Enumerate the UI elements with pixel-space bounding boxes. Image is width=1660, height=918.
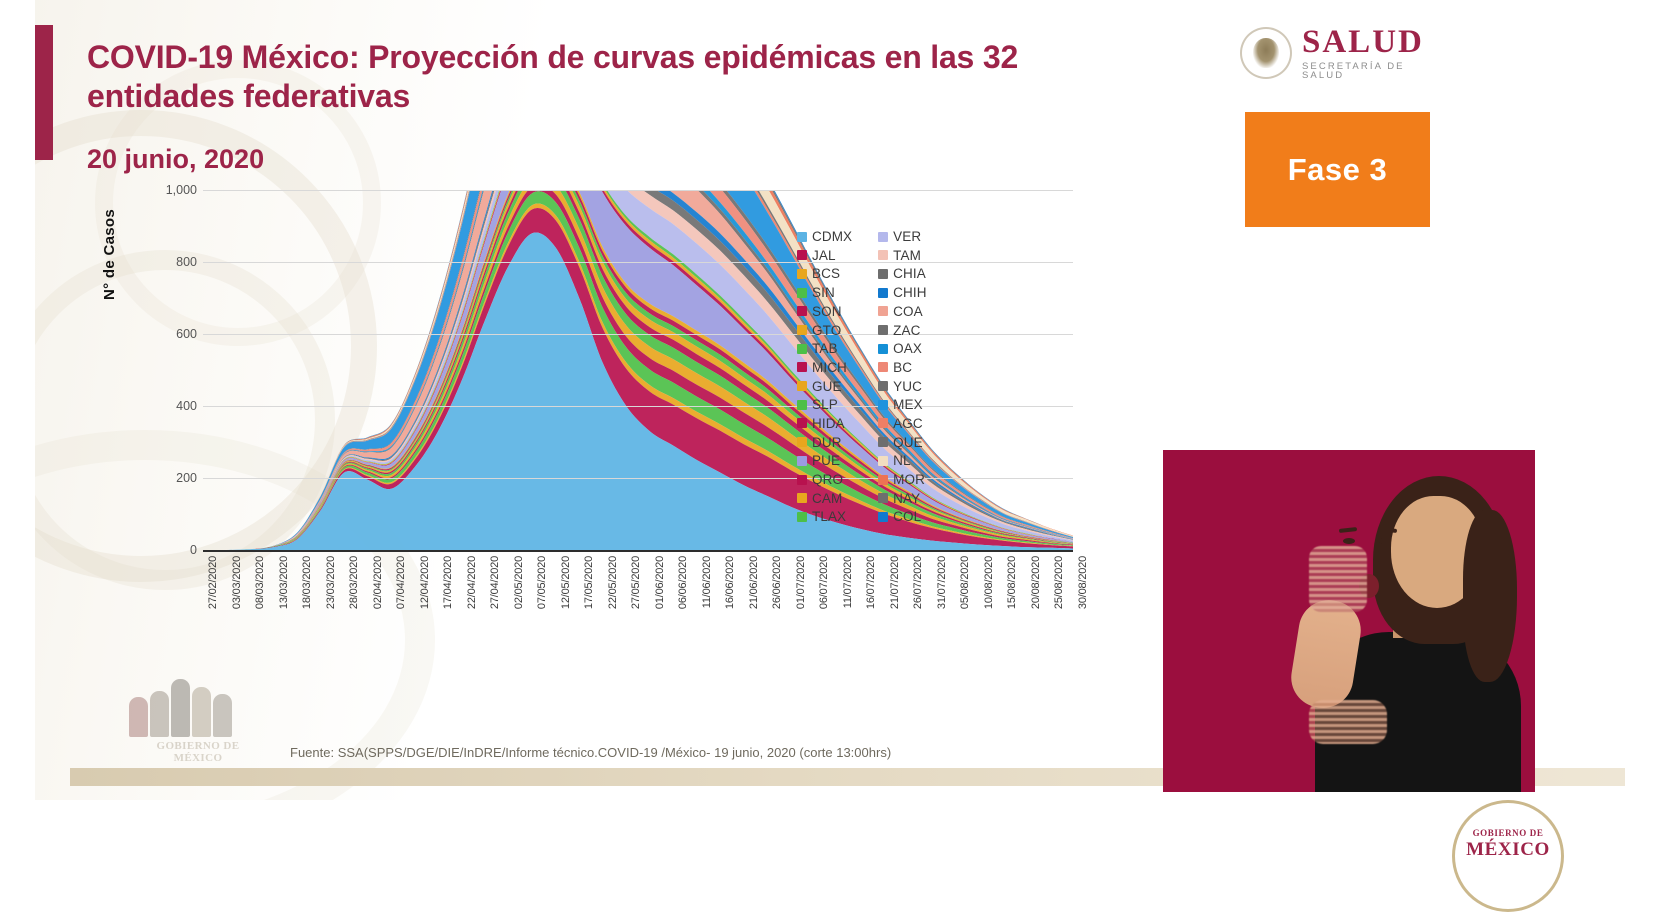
legend-label: MOR	[893, 472, 925, 487]
x-axis-tick-label: 15/08/2020	[1006, 556, 1018, 609]
watermark-figure	[150, 691, 169, 737]
legend-label: BC	[893, 360, 912, 375]
legend-swatch-icon	[797, 400, 807, 410]
watermark-figure	[129, 697, 148, 737]
x-axis-tick-label: 11/06/2020	[701, 556, 713, 608]
legend-item-pue[interactable]: PUE	[797, 452, 852, 469]
watermark-figure	[213, 694, 232, 737]
legend-item-chih[interactable]: CHIH	[878, 284, 926, 301]
legend-item-cam[interactable]: CAM	[797, 490, 852, 507]
epidemic-curves-chart: N° de Casos 02004006008001,000 27/02/202…	[107, 190, 1117, 670]
salud-wordmark: SALUD	[1302, 26, 1440, 59]
page-title: COVID-19 México: Proyección de curvas ep…	[87, 38, 1147, 116]
legend-swatch-icon	[878, 437, 888, 447]
watermark-figure	[192, 687, 211, 737]
legend-swatch-icon	[878, 325, 888, 335]
y-axis-tick-label: 800	[131, 255, 197, 269]
interpreter-hand-motion-blur	[1309, 546, 1367, 612]
legend-swatch-icon	[797, 269, 807, 279]
source-note: Fuente: SSA(SPPS/DGE/DIE/InDRE/Informe t…	[290, 745, 891, 760]
legend-swatch-icon	[878, 344, 888, 354]
gob-seal-top-text: GOBIERNO DE	[1473, 828, 1544, 838]
x-axis-tick-label: 01/07/2020	[795, 556, 807, 609]
x-axis-tick-label: 12/05/2020	[560, 556, 572, 609]
legend-label: SLP	[812, 397, 838, 412]
x-axis-tick-label: 12/04/2020	[419, 556, 431, 609]
y-axis-tick-label: 0	[131, 543, 197, 557]
legend-swatch-icon	[797, 512, 807, 522]
legend-item-slp[interactable]: SLP	[797, 396, 852, 413]
x-axis-tick-label: 26/07/2020	[912, 556, 924, 609]
x-axis-tick-label: 11/07/2020	[842, 556, 854, 608]
x-axis-tick-label: 22/05/2020	[607, 556, 619, 609]
legend-label: COA	[893, 304, 923, 319]
x-axis-tick-label: 16/07/2020	[865, 556, 877, 609]
legend-item-son[interactable]: SON	[797, 303, 852, 320]
legend-swatch-icon	[797, 418, 807, 428]
legend-label: PUE	[812, 453, 840, 468]
legend-item-hida[interactable]: HIDA	[797, 415, 852, 432]
legend-label: HIDA	[812, 416, 845, 431]
legend-item-coa[interactable]: COA	[878, 303, 926, 320]
legend-item-oax[interactable]: OAX	[878, 340, 926, 357]
legend-label: ZAC	[893, 323, 920, 338]
chart-gridline	[203, 190, 1073, 191]
legend-label: CDMX	[812, 229, 852, 244]
legend-label: JAL	[812, 248, 836, 263]
legend-item-bc[interactable]: BC	[878, 359, 926, 376]
legend-label: CAM	[812, 491, 842, 506]
legend-item-bcs[interactable]: BCS	[797, 265, 852, 282]
chart-legend: CDMXJALBCSSINSONGTOTABMICHGUESLPHIDADURP…	[797, 228, 1062, 526]
x-axis-tick-label: 28/03/2020	[348, 556, 360, 609]
watermark-figure	[171, 679, 190, 737]
interpreter-hair-side	[1463, 510, 1517, 682]
salud-logo: SALUD SECRETARÍA DE SALUD	[1240, 22, 1440, 84]
page-date: 20 junio, 2020	[87, 144, 1147, 175]
watermark-line2: MÉXICO	[174, 752, 223, 764]
legend-swatch-icon	[878, 269, 888, 279]
legend-swatch-icon	[797, 288, 807, 298]
legend-item-nl[interactable]: NL	[878, 452, 926, 469]
interpreter-eyebrow	[1339, 527, 1357, 533]
legend-label: GTO	[812, 323, 841, 338]
legend-label: QUE	[893, 435, 923, 450]
y-axis-ticks: 02004006008001,000	[107, 190, 197, 550]
legend-label: OAX	[893, 341, 922, 356]
x-axis-tick-label: 17/04/2020	[442, 556, 454, 609]
legend-item-qro[interactable]: QRO	[797, 471, 852, 488]
legend-label: TAB	[812, 341, 838, 356]
slide: COVID-19 México: Proyección de curvas ep…	[0, 0, 1660, 918]
x-axis-tick-label: 17/05/2020	[583, 556, 595, 609]
legend-item-cdmx[interactable]: CDMX	[797, 228, 852, 245]
title-block: COVID-19 México: Proyección de curvas ep…	[87, 38, 1147, 175]
x-axis-tick-label: 06/06/2020	[677, 556, 689, 609]
x-axis-tick-label: 07/05/2020	[536, 556, 548, 609]
x-axis-tick-label: 07/04/2020	[395, 556, 407, 609]
legend-column-2: VERTAMCHIACHIHCOAZACOAXBCYUCMEXAGCQUENLM…	[878, 228, 926, 526]
legend-swatch-icon	[797, 493, 807, 503]
x-axis-tick-labels: 27/02/202003/03/202008/03/202013/03/2020…	[203, 556, 1073, 666]
mexico-eagle-seal-icon	[1495, 867, 1521, 885]
x-axis-tick-label: 21/06/2020	[748, 556, 760, 609]
interpreter-eye	[1343, 538, 1355, 544]
title-accent-bar	[35, 25, 53, 160]
phase-badge: Fase 3	[1245, 112, 1430, 227]
legend-label: GUE	[812, 379, 842, 394]
legend-swatch-icon	[878, 456, 888, 466]
legend-label: MICH	[812, 360, 847, 375]
legend-item-yuc[interactable]: YUC	[878, 378, 926, 395]
legend-item-zac[interactable]: ZAC	[878, 321, 926, 338]
x-axis-tick-label: 13/03/2020	[278, 556, 290, 609]
y-axis-tick-label: 200	[131, 471, 197, 485]
legend-label: QRO	[812, 472, 843, 487]
x-axis-tick-label: 25/08/2020	[1053, 556, 1065, 609]
legend-swatch-icon	[797, 344, 807, 354]
legend-label: NAY	[893, 491, 920, 506]
legend-swatch-icon	[797, 381, 807, 391]
legend-item-agc[interactable]: AGC	[878, 415, 926, 432]
y-axis-tick-label: 400	[131, 399, 197, 413]
gob-seal-main-text: MÉXICO	[1466, 839, 1550, 861]
legend-item-gue[interactable]: GUE	[797, 378, 852, 395]
legend-swatch-icon	[878, 475, 888, 485]
legend-item-chia[interactable]: CHIA	[878, 265, 926, 282]
legend-label: BCS	[812, 266, 840, 281]
x-axis-tick-label: 31/07/2020	[936, 556, 948, 609]
x-axis-tick-label: 05/08/2020	[959, 556, 971, 609]
legend-label: SIN	[812, 285, 835, 300]
gobierno-de-mexico-seal: GOBIERNO DE MÉXICO	[1452, 800, 1564, 912]
y-axis-tick-label: 1,000	[131, 183, 197, 197]
legend-item-sin[interactable]: SIN	[797, 284, 852, 301]
x-axis-tick-label: 16/06/2020	[724, 556, 736, 609]
legend-column-1: CDMXJALBCSSINSONGTOTABMICHGUESLPHIDADURP…	[797, 228, 852, 526]
legend-item-mor[interactable]: MOR	[878, 471, 926, 488]
x-axis-tick-label: 21/07/2020	[889, 556, 901, 609]
x-axis-tick-label: 27/05/2020	[630, 556, 642, 609]
legend-label: CHIA	[893, 266, 926, 281]
legend-item-tam[interactable]: TAM	[878, 247, 926, 264]
salud-subtitle: SECRETARÍA DE SALUD	[1302, 62, 1440, 81]
x-axis-tick-label: 20/08/2020	[1030, 556, 1042, 609]
phase-badge-label: Fase 3	[1288, 152, 1388, 188]
x-axis-line	[203, 550, 1073, 552]
legend-item-gto[interactable]: GTO	[797, 321, 852, 338]
x-axis-tick-label: 27/02/2020	[207, 556, 219, 609]
legend-label: VER	[893, 229, 921, 244]
legend-swatch-icon	[797, 362, 807, 372]
interpreter-hand-motion-blur	[1309, 700, 1387, 744]
legend-label: NL	[893, 453, 910, 468]
legend-item-dur[interactable]: DUR	[797, 434, 852, 451]
legend-swatch-icon	[878, 381, 888, 391]
x-axis-tick-label: 22/04/2020	[466, 556, 478, 609]
x-axis-tick-label: 23/03/2020	[325, 556, 337, 609]
legend-label: COL	[893, 509, 921, 524]
legend-label: TLAX	[812, 509, 846, 524]
legend-swatch-icon	[797, 306, 807, 316]
legend-item-tlax[interactable]: TLAX	[797, 508, 852, 525]
legend-item-tab[interactable]: TAB	[797, 340, 852, 357]
x-axis-tick-label: 08/03/2020	[254, 556, 266, 609]
legend-swatch-icon	[878, 493, 888, 503]
legend-swatch-icon	[878, 400, 888, 410]
legend-swatch-icon	[797, 437, 807, 447]
x-axis-tick-label: 10/08/2020	[983, 556, 995, 609]
legend-item-mex[interactable]: MEX	[878, 396, 926, 413]
mexico-eagle-seal-icon	[1240, 27, 1292, 79]
legend-swatch-icon	[878, 418, 888, 428]
interpreter-eye	[1379, 538, 1391, 544]
legend-label: SON	[812, 304, 842, 319]
legend-swatch-icon	[797, 456, 807, 466]
x-axis-tick-label: 18/03/2020	[301, 556, 313, 609]
legend-item-jal[interactable]: JAL	[797, 247, 852, 264]
x-axis-tick-label: 02/04/2020	[372, 556, 384, 609]
legend-label: DUR	[812, 435, 842, 450]
legend-swatch-icon	[878, 362, 888, 372]
sign-language-interpreter-video	[1163, 450, 1535, 792]
legend-swatch-icon	[797, 325, 807, 335]
legend-swatch-icon	[878, 232, 888, 242]
legend-label: AGC	[893, 416, 923, 431]
legend-item-ver[interactable]: VER	[878, 228, 926, 245]
x-axis-tick-label: 30/08/2020	[1077, 556, 1089, 609]
x-axis-tick-label: 03/03/2020	[231, 556, 243, 609]
x-axis-tick-label: 26/06/2020	[771, 556, 783, 609]
legend-label: CHIH	[893, 285, 926, 300]
legend-swatch-icon	[797, 475, 807, 485]
legend-item-que[interactable]: QUE	[878, 434, 926, 451]
legend-label: YUC	[893, 379, 922, 394]
watermark-figures	[129, 679, 232, 737]
legend-swatch-icon	[878, 288, 888, 298]
watermark-line1: GOBIERNO DE	[157, 740, 240, 752]
legend-swatch-icon	[878, 512, 888, 522]
legend-item-col[interactable]: COL	[878, 508, 926, 525]
watermark-text: GOBIERNO DE MÉXICO	[123, 740, 273, 765]
legend-item-nay[interactable]: NAY	[878, 490, 926, 507]
x-axis-tick-label: 02/05/2020	[513, 556, 525, 609]
legend-swatch-icon	[797, 250, 807, 260]
legend-label: TAM	[893, 248, 921, 263]
x-axis-tick-label: 01/06/2020	[654, 556, 666, 609]
legend-swatch-icon	[878, 250, 888, 260]
historical-figures-watermark: GOBIERNO DE MÉXICO	[123, 672, 273, 767]
legend-item-mich[interactable]: MICH	[797, 359, 852, 376]
salud-logo-text: SALUD SECRETARÍA DE SALUD	[1302, 26, 1440, 81]
x-axis-tick-label: 06/07/2020	[818, 556, 830, 609]
y-axis-tick-label: 600	[131, 327, 197, 341]
legend-swatch-icon	[878, 306, 888, 316]
legend-label: MEX	[893, 397, 923, 412]
legend-swatch-icon	[797, 232, 807, 242]
x-axis-tick-label: 27/04/2020	[489, 556, 501, 609]
